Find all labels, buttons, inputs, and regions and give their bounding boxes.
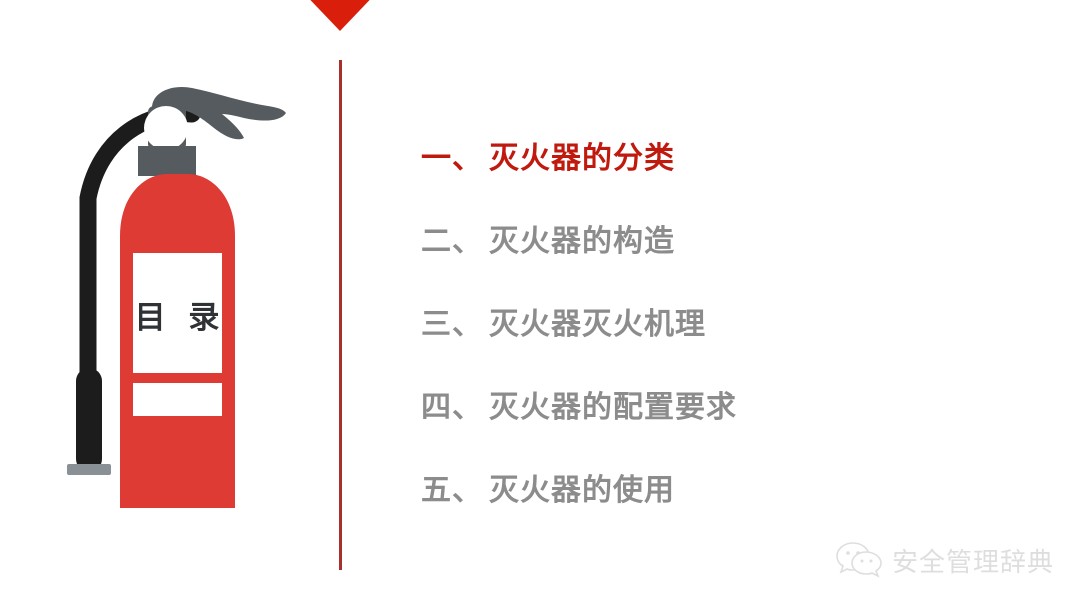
agenda-item-1-label: 灭火器的分类 [489,133,675,177]
agenda-item-1-index: 一、 [421,133,483,177]
agenda-item-2[interactable]: 二、 灭火器的构造 [421,196,1021,279]
agenda-item-4-label: 灭火器的配置要求 [489,382,737,426]
agenda-item-3-label: 灭火器灭火机理 [489,299,706,343]
extinguisher-label-text: 目 录 [124,303,236,334]
wechat-icon [836,540,884,580]
agenda-list: 一、 灭火器的分类 二、 灭火器的构造 三、 灭火器灭火机理 四、 灭火器的配置… [421,113,1021,528]
vertical-divider [339,60,342,570]
agenda-item-5-index: 五、 [421,465,483,509]
agenda-item-3[interactable]: 三、 灭火器灭火机理 [421,279,1021,362]
watermark-text: 安全管理辞典 [892,542,1054,579]
agenda-item-5-label: 灭火器的使用 [489,465,675,509]
agenda-item-3-index: 三、 [421,299,483,343]
agenda-item-4-index: 四、 [421,382,483,426]
watermark: 安全管理辞典 [836,540,1054,580]
slide-canvas: 目 录 一、 灭火器的分类 二、 灭火器的构造 三、 灭火器灭火机理 四、 灭火… [0,0,1080,608]
agenda-item-2-index: 二、 [421,216,483,260]
agenda-item-2-label: 灭火器的构造 [489,216,675,260]
agenda-item-4[interactable]: 四、 灭火器的配置要求 [421,362,1021,445]
agenda-item-1[interactable]: 一、 灭火器的分类 [421,113,1021,196]
triangle-marker-icon [297,0,383,31]
agenda-item-5[interactable]: 五、 灭火器的使用 [421,445,1021,528]
